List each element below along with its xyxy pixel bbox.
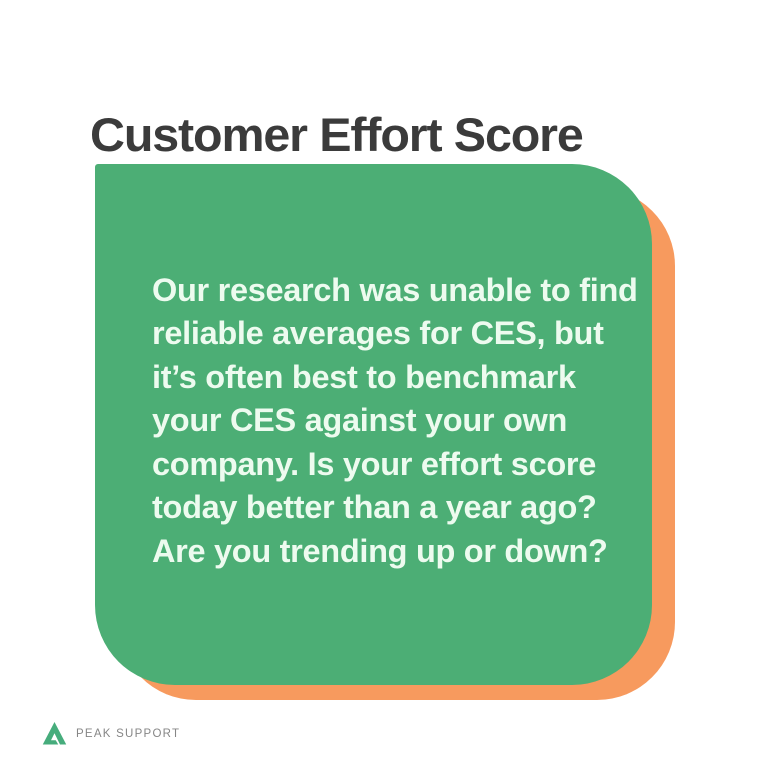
brand-logo: PEAK SUPPORT <box>42 721 180 746</box>
card-body-text: Our research was unable to find reliable… <box>152 269 642 574</box>
peak-support-triangle-icon <box>42 721 67 746</box>
infographic-canvas: Customer Effort Score Our research was u… <box>0 0 768 768</box>
brand-wordmark: PEAK SUPPORT <box>76 728 180 740</box>
content-card: Our research was unable to find reliable… <box>95 164 652 685</box>
card-stack: Our research was unable to find reliable… <box>0 0 768 768</box>
